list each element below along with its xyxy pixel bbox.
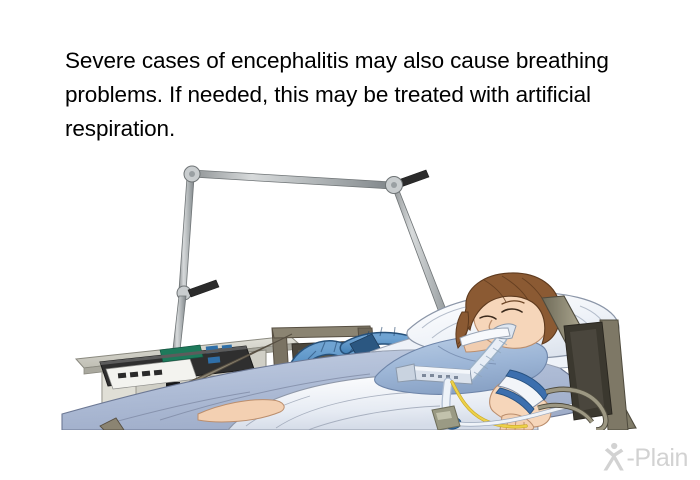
slide-canvas: Severe cases of encephalitis may also ca… xyxy=(0,0,700,480)
logo-text: -Plain xyxy=(626,446,688,471)
x-plain-figure-mark xyxy=(601,442,627,472)
xplain-logo: -Plain xyxy=(601,440,688,474)
medical-illustration: o o xyxy=(40,130,660,430)
